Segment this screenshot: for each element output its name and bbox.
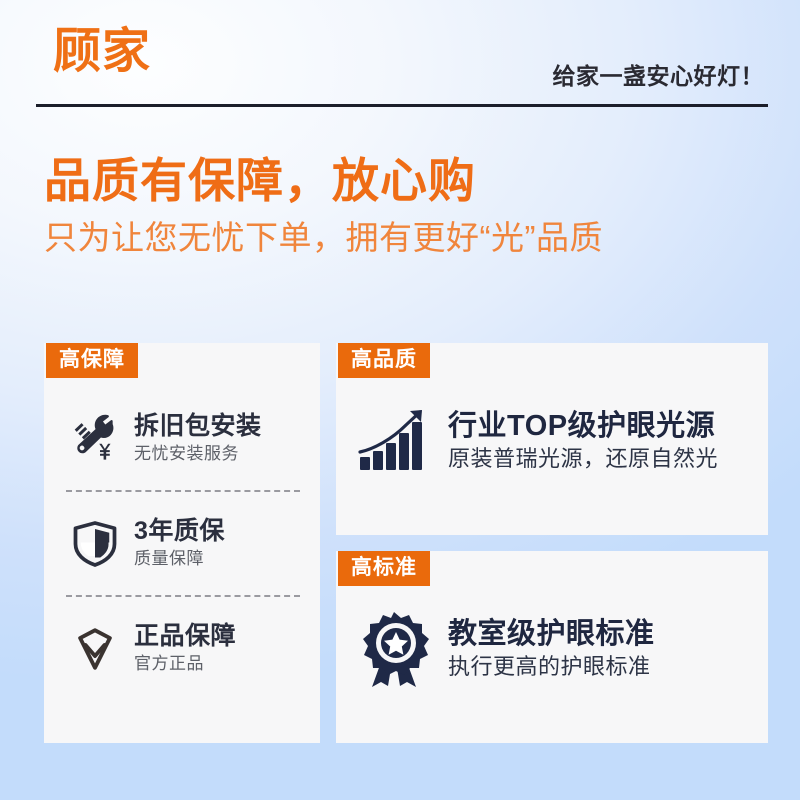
- wrench-yen-icon: [70, 414, 120, 464]
- growth-bar-chart-icon: [358, 405, 430, 477]
- badge-quality: 高品质: [338, 343, 430, 378]
- hero-section: 品质有保障，放心购 只为让您无忧下单，拥有更好“光”品质: [44, 155, 764, 257]
- list-item-subtitle: 质量保障: [134, 550, 225, 569]
- badge-guarantee: 高保障: [46, 343, 138, 378]
- guarantee-column: 高保障: [44, 343, 320, 743]
- quality-item-text: 行业TOP级护眼光源 原装普瑞光源，还原自然光: [448, 410, 718, 472]
- quality-item[interactable]: 行业TOP级护眼光源 原装普瑞光源，还原自然光: [358, 405, 718, 477]
- list-item-title: 拆旧包安装: [134, 413, 262, 441]
- quality-item-subtitle: 原装普瑞光源，还原自然光: [448, 447, 718, 472]
- standard-item-title: 教室级护眼标准: [448, 618, 655, 650]
- card-quality: 高品质: [336, 343, 768, 535]
- page-header: 顾家 给家一盏安心好灯！: [36, 28, 768, 108]
- hero-title: 品质有保障，放心购: [44, 155, 764, 208]
- header-divider: [36, 104, 768, 107]
- list-item-text: 3年质保 质量保障: [134, 518, 225, 568]
- list-item-title: 3年质保: [134, 518, 225, 546]
- card-standard: 高标准: [336, 551, 768, 743]
- list-item-subtitle: 官方正品: [134, 655, 236, 674]
- feature-cards: 高保障: [44, 343, 768, 743]
- list-item-subtitle: 无忧安装服务: [134, 445, 262, 464]
- list-item-text: 拆旧包安装 无忧安装服务: [134, 413, 262, 463]
- diamond-icon: [70, 624, 120, 674]
- badge-standard: 高标准: [338, 551, 430, 586]
- list-item-text: 正品保障 官方正品: [134, 623, 236, 673]
- list-item[interactable]: 拆旧包安装 无忧安装服务: [56, 387, 308, 490]
- list-item-title: 正品保障: [134, 623, 236, 651]
- quality-standard-column: 高品质: [336, 343, 768, 743]
- list-item[interactable]: 3年质保 质量保障: [56, 492, 308, 595]
- award-medal-icon: [358, 613, 430, 685]
- guarantee-item-list: 拆旧包安装 无忧安装服务: [44, 387, 320, 743]
- brand-logo-text: 顾家: [53, 28, 151, 76]
- brand-slogan: 给家一盏安心好灯！: [553, 57, 765, 91]
- standard-item-subtitle: 执行更高的护眼标准: [448, 655, 655, 680]
- quality-item-title: 行业TOP级护眼光源: [448, 410, 718, 442]
- hero-subtitle: 只为让您无忧下单，拥有更好“光”品质: [44, 218, 764, 258]
- card-guarantee: 高保障: [44, 343, 320, 743]
- promo-banner: 顾家 给家一盏安心好灯！ 品质有保障，放心购 只为让您无忧下单，拥有更好“光”品…: [0, 0, 800, 800]
- list-item[interactable]: 正品保障 官方正品: [56, 597, 308, 700]
- shield-icon: [70, 519, 120, 569]
- standard-item[interactable]: 教室级护眼标准 执行更高的护眼标准: [358, 613, 655, 685]
- standard-item-text: 教室级护眼标准 执行更高的护眼标准: [448, 618, 655, 680]
